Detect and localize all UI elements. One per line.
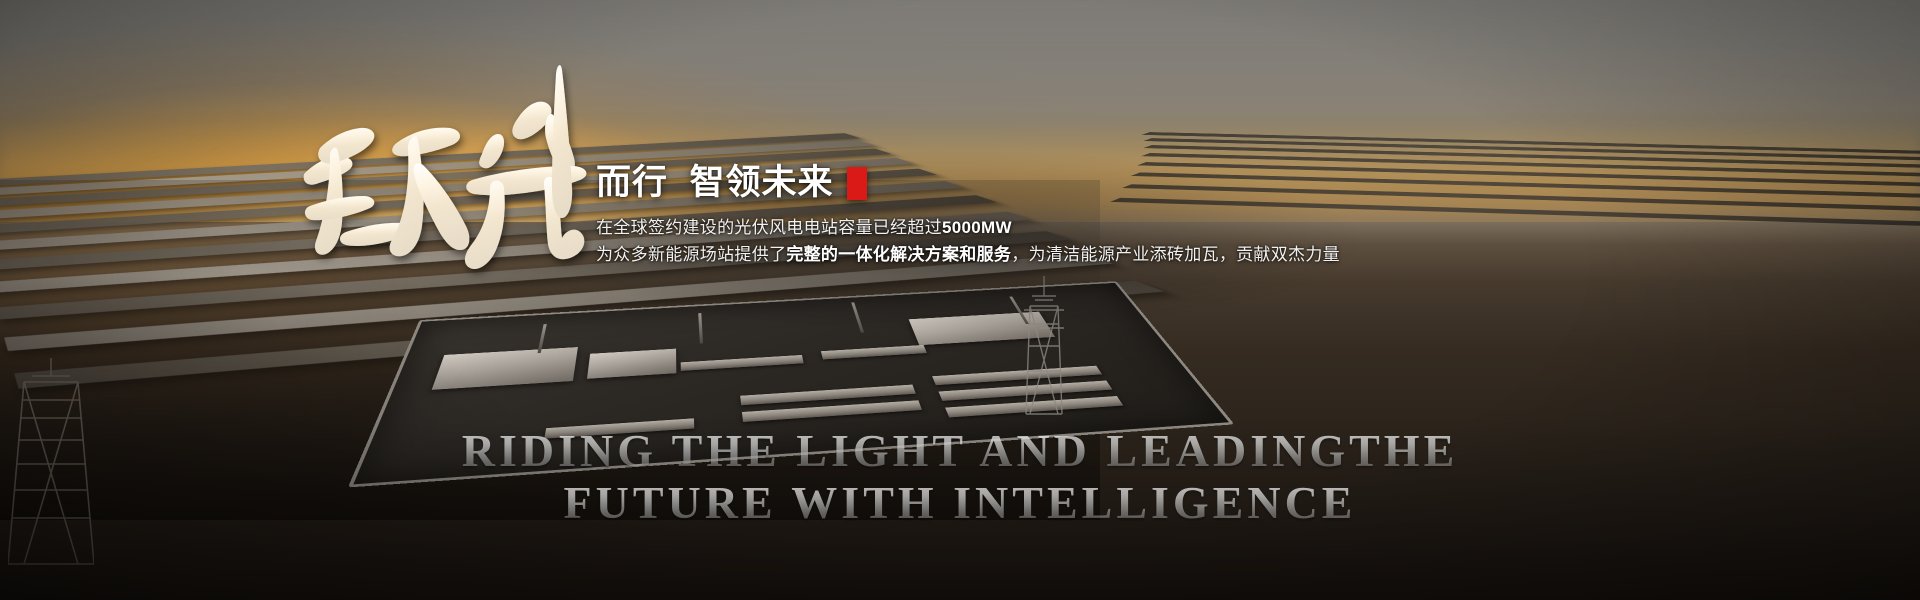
banner-copy: 而行 智领未来 在全球签约建设的光伏风电电站容量已经超过5000MW 为众多新能…	[596, 164, 1496, 269]
subtitle-line2-suffix: ，为清洁能源产业添砖加瓦，贡献双杰力量	[1011, 245, 1340, 264]
hero-banner: 而行 智领未来 在全球签约建设的光伏风电电站容量已经超过5000MW 为众多新能…	[0, 0, 1920, 600]
subtitle-line-1: 在全球签约建设的光伏风电电站容量已经超过5000MW	[596, 214, 1496, 242]
calligraphy-logo-yuguang	[286, 56, 606, 281]
subtitle-line2-prefix: 为众多新能源场站提供了	[596, 245, 786, 264]
subtitle: 在全球签约建设的光伏风电电站容量已经超过5000MW 为众多新能源场站提供了完整…	[596, 214, 1496, 269]
headline: 而行 智领未来	[596, 164, 1496, 203]
accent-red-block	[847, 167, 867, 200]
subtitle-line1-strong: 5000MW	[942, 218, 1012, 237]
subtitle-line1-prefix: 在全球签约建设的光伏风电电站容量已经超过	[596, 218, 942, 237]
subtitle-line-2: 为众多新能源场站提供了完整的一体化解决方案和服务，为清洁能源产业添砖加瓦，贡献双…	[596, 241, 1496, 269]
headline-text: 而行 智领未来	[596, 164, 833, 203]
foreground-pylon-icon	[8, 358, 94, 568]
subtitle-line2-strong: 完整的一体化解决方案和服务	[786, 245, 1011, 264]
transmission-pylon-icon	[1022, 276, 1066, 416]
